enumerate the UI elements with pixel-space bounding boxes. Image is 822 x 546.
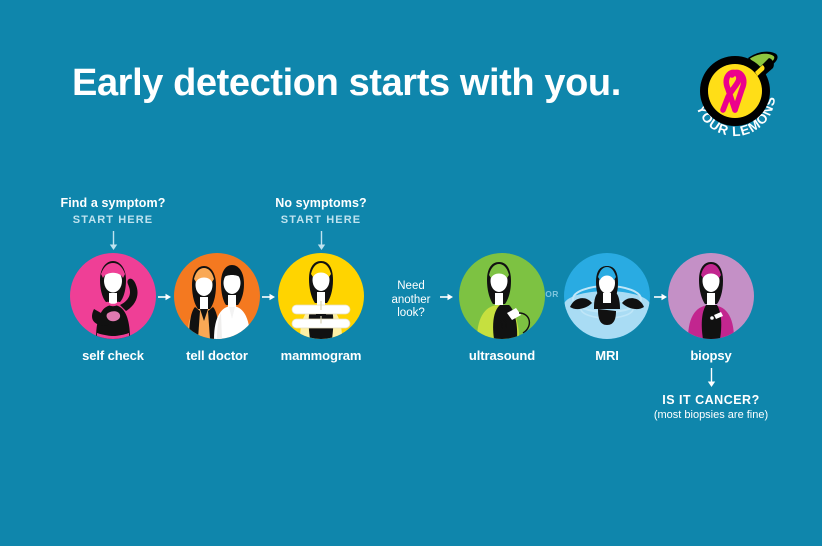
down-arrow-icon <box>28 231 198 251</box>
step-self-check[interactable]: self check <box>65 253 161 363</box>
right-arrow-icon <box>440 290 454 302</box>
poster-canvas: Early detection starts with you. KNOW YO… <box>0 0 822 546</box>
callout-find-a-symptom: Find a symptom? START HERE <box>28 196 198 251</box>
is-it-cancer-label: IS IT CANCER? <box>616 392 806 408</box>
biopsy-icon <box>668 253 754 339</box>
step-label: self check <box>65 348 161 363</box>
callout-start-here: START HERE <box>236 211 406 229</box>
down-arrow-icon <box>236 231 406 251</box>
step-label: biopsy <box>663 348 759 363</box>
callout-start-here: START HERE <box>28 211 198 229</box>
callout-no-symptoms: No symptoms? START HERE <box>236 196 406 251</box>
callout-question: No symptoms? <box>236 196 406 211</box>
step-tell-doctor[interactable]: tell doctor <box>169 253 265 363</box>
step-label: tell doctor <box>169 348 265 363</box>
step-label: mammogram <box>273 348 369 363</box>
self-check-icon <box>70 253 156 339</box>
need-another-look-line-2: another <box>382 294 440 308</box>
need-another-look-line-1: Need <box>382 280 440 294</box>
page-title: Early detection starts with you. <box>72 62 621 105</box>
tell-doctor-icon <box>174 253 260 339</box>
step-mammogram[interactable]: mammogram <box>273 253 369 363</box>
ultrasound-icon <box>459 253 545 339</box>
callout-question: Find a symptom? <box>28 196 198 211</box>
step-ultrasound[interactable]: ultrasound <box>454 253 550 363</box>
down-arrow-icon <box>616 368 806 388</box>
need-another-look-label: Need another look? <box>382 280 440 321</box>
biopsy-outcome: IS IT CANCER? (most biopsies are fine) <box>616 368 806 423</box>
mammogram-icon <box>278 253 364 339</box>
need-another-look-line-3: look? <box>382 307 440 321</box>
mri-icon <box>564 253 650 339</box>
step-biopsy[interactable]: biopsy <box>663 253 759 363</box>
step-mri[interactable]: MRI <box>559 253 655 363</box>
biopsy-note: (most biopsies are fine) <box>616 408 806 423</box>
step-label: MRI <box>559 348 655 363</box>
know-your-lemons-logo: KNOW YOUR LEMONS FDN. <box>676 34 794 152</box>
step-label: ultrasound <box>454 348 550 363</box>
